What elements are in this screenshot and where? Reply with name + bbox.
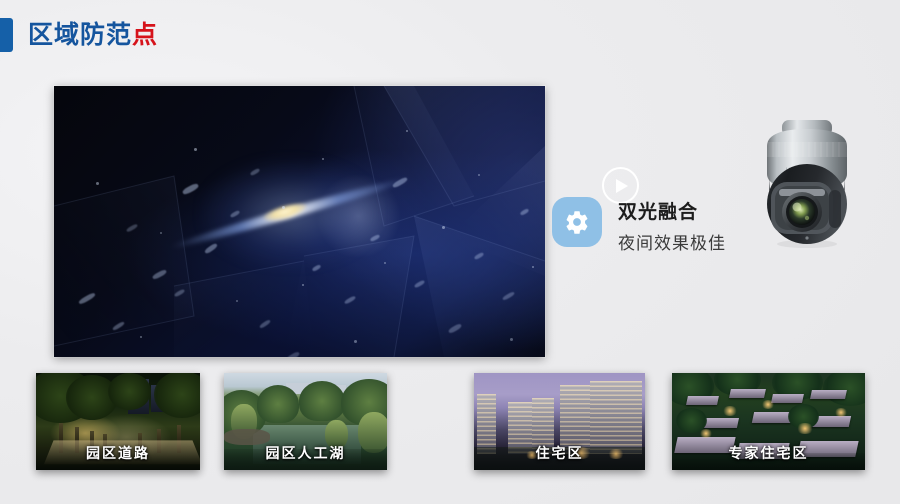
play-icon bbox=[616, 179, 628, 193]
thumbnail-0[interactable]: 园区道路 bbox=[36, 373, 200, 470]
thumbnail-1[interactable]: 园区人工湖 bbox=[224, 373, 387, 470]
slide-canvas: 区域防范点 bbox=[0, 0, 900, 504]
page-title-primary: 区域防范 bbox=[28, 20, 132, 49]
thumbnail-caption-1: 园区人工湖 bbox=[224, 443, 387, 463]
thumbnail-caption-3: 专家住宅区 bbox=[672, 443, 865, 463]
feature-subtitle: 夜间效果极佳 bbox=[618, 229, 726, 254]
video-particle-streaks bbox=[54, 86, 545, 357]
title-accent-bar bbox=[0, 18, 13, 52]
thumbnail-caption-0: 园区道路 bbox=[36, 443, 200, 463]
page-title: 区域防范点 bbox=[28, 18, 158, 52]
feature-title: 双光融合 bbox=[618, 197, 698, 224]
gear-icon bbox=[564, 209, 590, 235]
page-title-accent: 点 bbox=[132, 20, 158, 49]
feature-icon-badge bbox=[552, 197, 602, 247]
main-video-player[interactable] bbox=[54, 86, 545, 357]
ptz-camera-image: HIKVISION bbox=[745, 112, 870, 262]
thumbnail-2[interactable]: 住宅区 bbox=[474, 373, 645, 470]
thumbnail-caption-2: 住宅区 bbox=[474, 443, 645, 463]
thumbnail-3[interactable]: 专家住宅区 bbox=[672, 373, 865, 470]
